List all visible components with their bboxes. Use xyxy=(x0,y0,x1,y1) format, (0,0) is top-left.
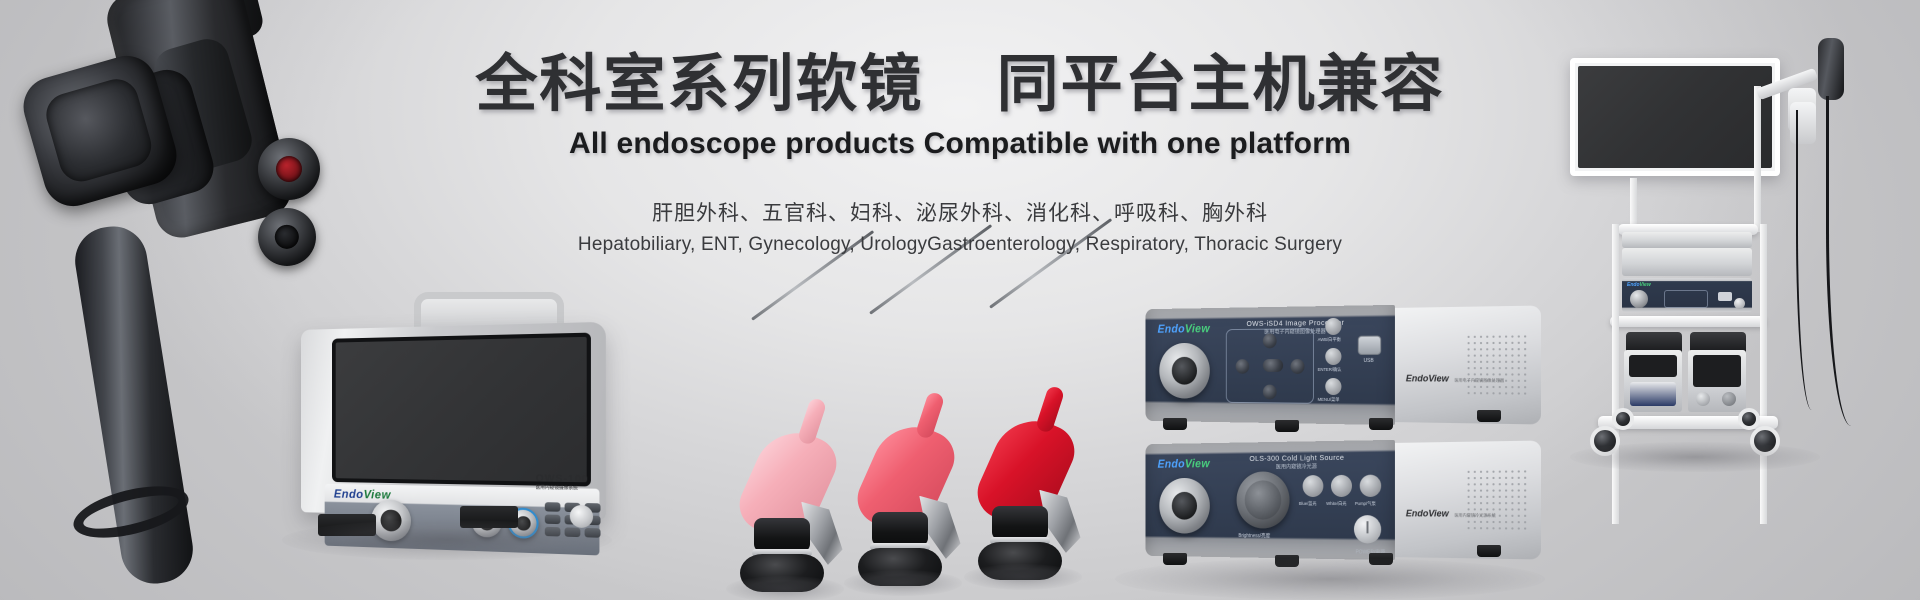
processor-menu-label: MENU/菜单 xyxy=(1318,397,1340,403)
light-source-connector xyxy=(1159,478,1210,534)
departments-en: Hepatobiliary, ENT, Gynecology, UrologyG… xyxy=(0,234,1920,256)
light-source-model-sub: 医用内窥镜冷光源 xyxy=(1249,462,1344,471)
image-processor-unit: EndoView 医用电子内窥镜图像处理器 EndoView OWS-iSD4 … xyxy=(1146,302,1537,427)
connector-inner xyxy=(1172,492,1197,520)
monitor-workstation-product: EndoView OWS-100 医用内窥镜摄像系统 xyxy=(292,292,622,582)
brightness-knob xyxy=(1237,471,1290,528)
brand-text-endo: Endo xyxy=(1158,457,1185,471)
keypad-down-button xyxy=(1263,385,1277,400)
light-source-model-label: OLS-300 Cold Light Source 医用内窥镜冷光源 xyxy=(1249,453,1344,471)
light-source-side-panel: EndoView 医用内窥镜冷光源系统 xyxy=(1391,441,1541,560)
departments-cn: 肝胆外科、五官科、妇科、泌尿外科、消化科、呼吸科、胸外科 xyxy=(0,197,1920,227)
keypad-key xyxy=(545,502,561,512)
headline-cn-part2: 同平台主机兼容 xyxy=(997,47,1445,120)
rigid-scope-coral xyxy=(858,312,988,600)
cart-unit-connector xyxy=(1630,290,1648,308)
side-brand-text: EndoView xyxy=(1406,373,1449,384)
scope-shadow xyxy=(964,564,1082,590)
processor-awb-label: AWB/白平衡 xyxy=(1318,337,1341,343)
light-source-unit: EndoView 医用内窥镜冷光源系统 EndoView OLS-300 Col… xyxy=(1146,437,1537,562)
side-brand-sub: 医用内窥镜冷光源系统 xyxy=(1454,513,1495,518)
processor-awb-button xyxy=(1325,318,1341,335)
banner-text-block: 全科室系列软镜 同平台主机兼容 All endoscope products C… xyxy=(0,48,1920,256)
processor-scope-connector xyxy=(1159,343,1210,399)
workstation-brand-logo: EndoView xyxy=(334,487,391,502)
processor-menu-button xyxy=(1325,378,1341,395)
page-title: 全科室系列软镜 同平台主机兼容 xyxy=(0,48,1920,119)
side-brand-text: EndoView xyxy=(1406,508,1449,519)
keypad-left-button xyxy=(1236,359,1250,374)
cart-unit-keypad xyxy=(1664,290,1708,308)
cart-caster-back-right xyxy=(1738,408,1760,430)
light-source-pump-label: Pump/气泵 xyxy=(1355,501,1376,507)
cart-unit-usb xyxy=(1718,292,1732,301)
processor-foot xyxy=(1369,418,1393,430)
processor-brand-logo: EndoView xyxy=(1158,322,1210,336)
endoscope-product-banner: 全科室系列软镜 同平台主机兼容 All endoscope products C… xyxy=(0,0,1920,600)
processor-side-panel: EndoView 医用电子内窥镜图像处理器 xyxy=(1391,306,1541,425)
connector-inner xyxy=(1172,357,1197,385)
light-source-white-label: White/白光 xyxy=(1326,501,1346,507)
workstation-shadow xyxy=(282,520,612,560)
cart-shadow xyxy=(1570,442,1820,472)
lower-unit-b-knob xyxy=(1696,392,1710,406)
processor-foot xyxy=(1275,420,1299,432)
lower-unit-b-display xyxy=(1693,355,1741,387)
scope-collar xyxy=(992,506,1048,540)
stack-shadow xyxy=(1115,558,1545,600)
rigid-scope-pink xyxy=(740,318,870,600)
processor-enter-label: ENTER/确认 xyxy=(1318,367,1342,373)
cart-unit-brand: EndoView xyxy=(1627,282,1651,288)
brand-text-endo: Endo xyxy=(334,487,364,501)
light-source-front-panel: EndoView OLS-300 Cold Light Source 医用内窥镜… xyxy=(1146,440,1395,560)
side-brand-sub: 医用电子内窥镜图像处理器 xyxy=(1454,378,1504,383)
cart-lower-unit-a xyxy=(1624,350,1682,412)
workstation-model-label: OWS-100 医用内窥镜摄像系统 xyxy=(536,473,589,491)
headline-subtitle-en: All endoscope products Compatible with o… xyxy=(0,127,1920,161)
lower-unit-b-knob2 xyxy=(1722,392,1736,406)
cart-post-right xyxy=(1760,224,1767,524)
keypad-center-button xyxy=(1263,359,1283,372)
keypad-up-button xyxy=(1263,334,1277,349)
light-source-power-button xyxy=(1354,515,1381,544)
keypad-right-button xyxy=(1291,359,1305,374)
processor-usb-port xyxy=(1358,336,1381,355)
brand-text-endo: Endo xyxy=(1158,322,1185,336)
cart-lower-unit-b xyxy=(1688,350,1746,412)
light-source-white-button xyxy=(1331,475,1352,497)
workstation-display xyxy=(332,333,591,487)
workstation-model-text: OWS-100 xyxy=(536,473,589,485)
processor-foot xyxy=(1163,418,1187,430)
processor-enter-button xyxy=(1325,348,1341,365)
light-source-foot xyxy=(1477,545,1501,557)
light-source-brand-logo: EndoView xyxy=(1158,457,1210,471)
scope-shadow xyxy=(726,576,844,600)
scope-collar xyxy=(754,518,810,552)
lower-unit-a-display xyxy=(1629,355,1677,377)
light-source-blue-button xyxy=(1303,475,1324,497)
cart-processor-unit: EndoView xyxy=(1622,278,1752,312)
scope-collar xyxy=(872,512,928,546)
processor-keypad xyxy=(1226,328,1314,404)
keypad-key xyxy=(545,514,561,524)
light-source-blue-label: Blue/蓝光 xyxy=(1299,501,1317,507)
brand-text-view: View xyxy=(1185,457,1210,471)
usb-label: USB xyxy=(1364,358,1374,364)
light-source-pump-button xyxy=(1360,475,1381,497)
cart-caster-back-left xyxy=(1612,408,1634,430)
cart-unit-power-button xyxy=(1734,298,1745,309)
brand-text-view: View xyxy=(1185,322,1210,336)
brand-text-endo: Endo xyxy=(1627,282,1640,288)
processor-foot xyxy=(1477,410,1501,422)
scope-shadow xyxy=(844,570,962,596)
cart-shelf-mid xyxy=(1610,316,1766,327)
processor-stack: EndoView 医用电子内窥镜图像处理器 EndoView OWS-iSD4 … xyxy=(1125,306,1575,596)
workstation-power-button xyxy=(570,505,593,528)
workstation-shell: EndoView OWS-100 医用内窥镜摄像系统 xyxy=(301,322,606,520)
rigid-scope-red xyxy=(978,306,1108,596)
light-source-side-brand: EndoView 医用内窥镜冷光源系统 xyxy=(1403,508,1496,521)
processor-front-panel: EndoView OWS-iSD4 Image Processor 医用电子内窥… xyxy=(1146,305,1395,425)
processor-side-brand: EndoView 医用电子内窥镜图像处理器 xyxy=(1403,373,1504,386)
brand-text-view: View xyxy=(1640,282,1651,288)
workstation-model-sub: 医用内窥镜摄像系统 xyxy=(536,485,589,492)
power-icon xyxy=(1367,521,1369,533)
cart-post-left xyxy=(1612,224,1619,524)
lower-unit-a-panel xyxy=(1630,382,1676,406)
brightness-knob-label: Brightness/亮度 xyxy=(1238,532,1270,539)
headline-cn-part1: 全科室系列软镜 xyxy=(475,47,923,120)
